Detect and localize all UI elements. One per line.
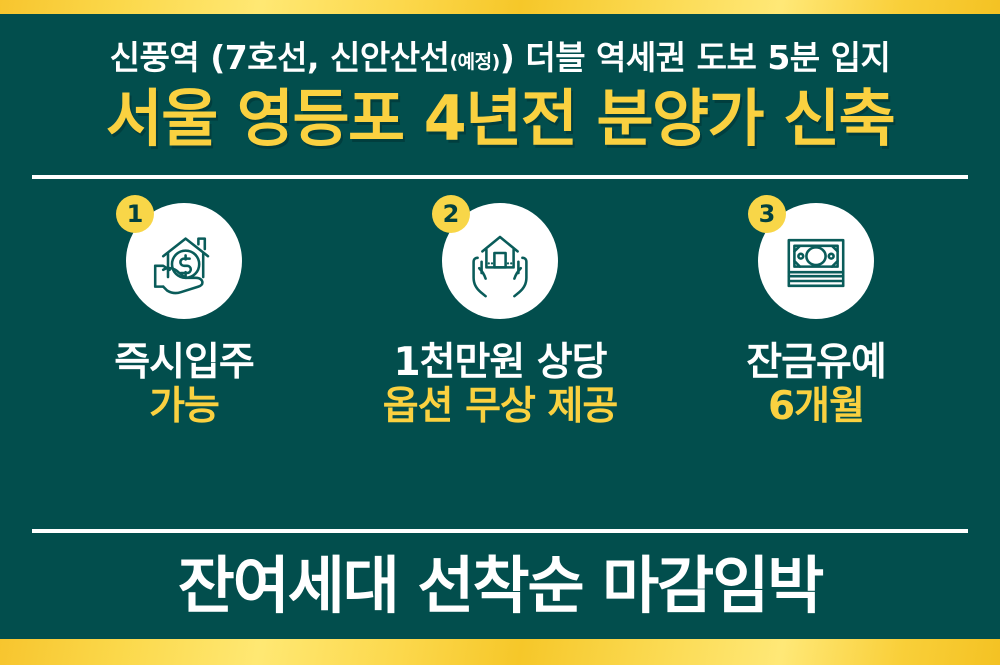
feature-label-bottom-1: 가능 bbox=[114, 385, 254, 429]
feature-label-bottom-3: 6개월 bbox=[746, 385, 886, 429]
subtitle-text-part1: 신풍역 (7호선, 신안산선 bbox=[110, 38, 450, 77]
hand-holding-house-money-icon bbox=[144, 221, 224, 301]
subtitle-line: 신풍역 (7호선, 신안산선(예정)) 더블 역세권 도보 5분 입지 bbox=[0, 40, 1000, 76]
feature-icon-wrapper-3: 3 bbox=[758, 203, 874, 319]
feature-item-3: 3 잔금유예 6개월 bbox=[666, 203, 966, 428]
hands-cradling-house-icon bbox=[460, 221, 540, 301]
feature-label-1: 즉시입주 가능 bbox=[114, 341, 254, 428]
gold-bottom-border bbox=[0, 639, 1000, 665]
feature-icon-wrapper-2: 2 bbox=[442, 203, 558, 319]
subtitle-planned-note: (예정) bbox=[449, 51, 499, 73]
banner-body: 신풍역 (7호선, 신안산선(예정)) 더블 역세권 도보 5분 입지 서울 영… bbox=[0, 14, 1000, 639]
banner-header: 신풍역 (7호선, 신안산선(예정)) 더블 역세권 도보 5분 입지 서울 영… bbox=[0, 14, 1000, 153]
feature-badge-1: 1 bbox=[116, 195, 154, 233]
gold-top-border bbox=[0, 0, 1000, 14]
feature-label-top-2: 1천만원 상당 bbox=[383, 341, 617, 385]
feature-label-bottom-2: 옵션 무상 제공 bbox=[383, 385, 617, 429]
subtitle-text-part2: ) 더블 역세권 도보 5분 입지 bbox=[500, 38, 891, 77]
feature-label-3: 잔금유예 6개월 bbox=[746, 341, 886, 428]
feature-label-top-3: 잔금유예 bbox=[746, 341, 886, 385]
feature-label-top-1: 즉시입주 bbox=[114, 341, 254, 385]
banner-footer: 잔여세대 선착순 마감임박 bbox=[0, 533, 1000, 639]
feature-badge-3: 3 bbox=[748, 195, 786, 233]
promo-banner: 신풍역 (7호선, 신안산선(예정)) 더블 역세권 도보 5분 입지 서울 영… bbox=[0, 0, 1000, 665]
main-headline: 서울 영등포 4년전 분양가 신축 bbox=[0, 86, 1000, 153]
feature-icon-wrapper-1: 1 bbox=[126, 203, 242, 319]
feature-label-2: 1천만원 상당 옵션 무상 제공 bbox=[383, 341, 617, 428]
feature-badge-2: 2 bbox=[432, 195, 470, 233]
feature-item-2: 2 1천만원 상당 옵션 무상 제공 bbox=[350, 203, 650, 428]
cash-stack-icon bbox=[776, 221, 856, 301]
footer-headline: 잔여세대 선착순 마감임박 bbox=[178, 555, 823, 617]
feature-list: 1 즉시입주 가능 bbox=[0, 179, 1000, 529]
feature-item-1: 1 즉시입주 가능 bbox=[34, 203, 334, 428]
